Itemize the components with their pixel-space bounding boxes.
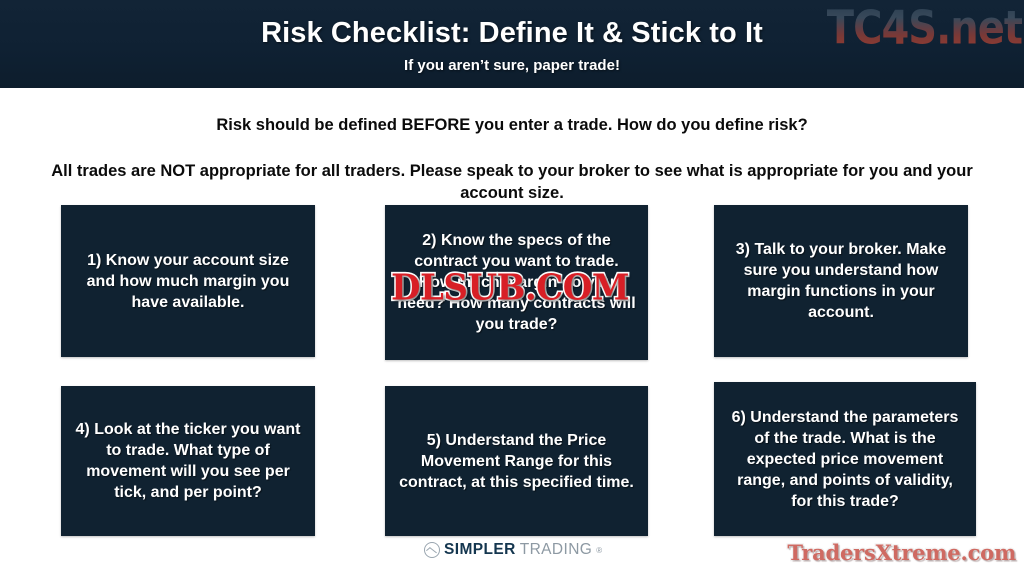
checklist-item-1: 1) Know your account size and how much m… bbox=[61, 205, 315, 357]
registered-trademark-icon: ® bbox=[596, 546, 602, 555]
checklist-item-6-text: 6) Understand the parameters of the trad… bbox=[726, 407, 964, 512]
simpler-logo-bold-text: SIMPLER bbox=[444, 541, 516, 559]
checklist-item-5-text: 5) Understand the Price Movement Range f… bbox=[397, 430, 636, 493]
dlsub-watermark: DLSUB.COM bbox=[366, 267, 654, 309]
checklist-item-4: 4) Look at the ticker you want to trade.… bbox=[61, 386, 315, 536]
tradersxtreme-logo: TradersXtreme.com bbox=[787, 540, 1016, 565]
checklist-item-6: 6) Understand the parameters of the trad… bbox=[714, 382, 976, 536]
checklist-item-5: 5) Understand the Price Movement Range f… bbox=[385, 386, 648, 536]
checklist-item-1-text: 1) Know your account size and how much m… bbox=[73, 250, 303, 313]
checklist-item-4-text: 4) Look at the ticker you want to trade.… bbox=[73, 419, 303, 503]
simpler-trading-logo: SIMPLER TRADING ® bbox=[424, 541, 602, 559]
checklist-item-3: 3) Talk to your broker. Make sure you un… bbox=[714, 205, 968, 357]
simpler-logo-light-text: TRADING bbox=[520, 541, 593, 559]
checklist-item-3-text: 3) Talk to your broker. Make sure you un… bbox=[726, 239, 956, 323]
chart-circle-icon bbox=[424, 542, 440, 558]
